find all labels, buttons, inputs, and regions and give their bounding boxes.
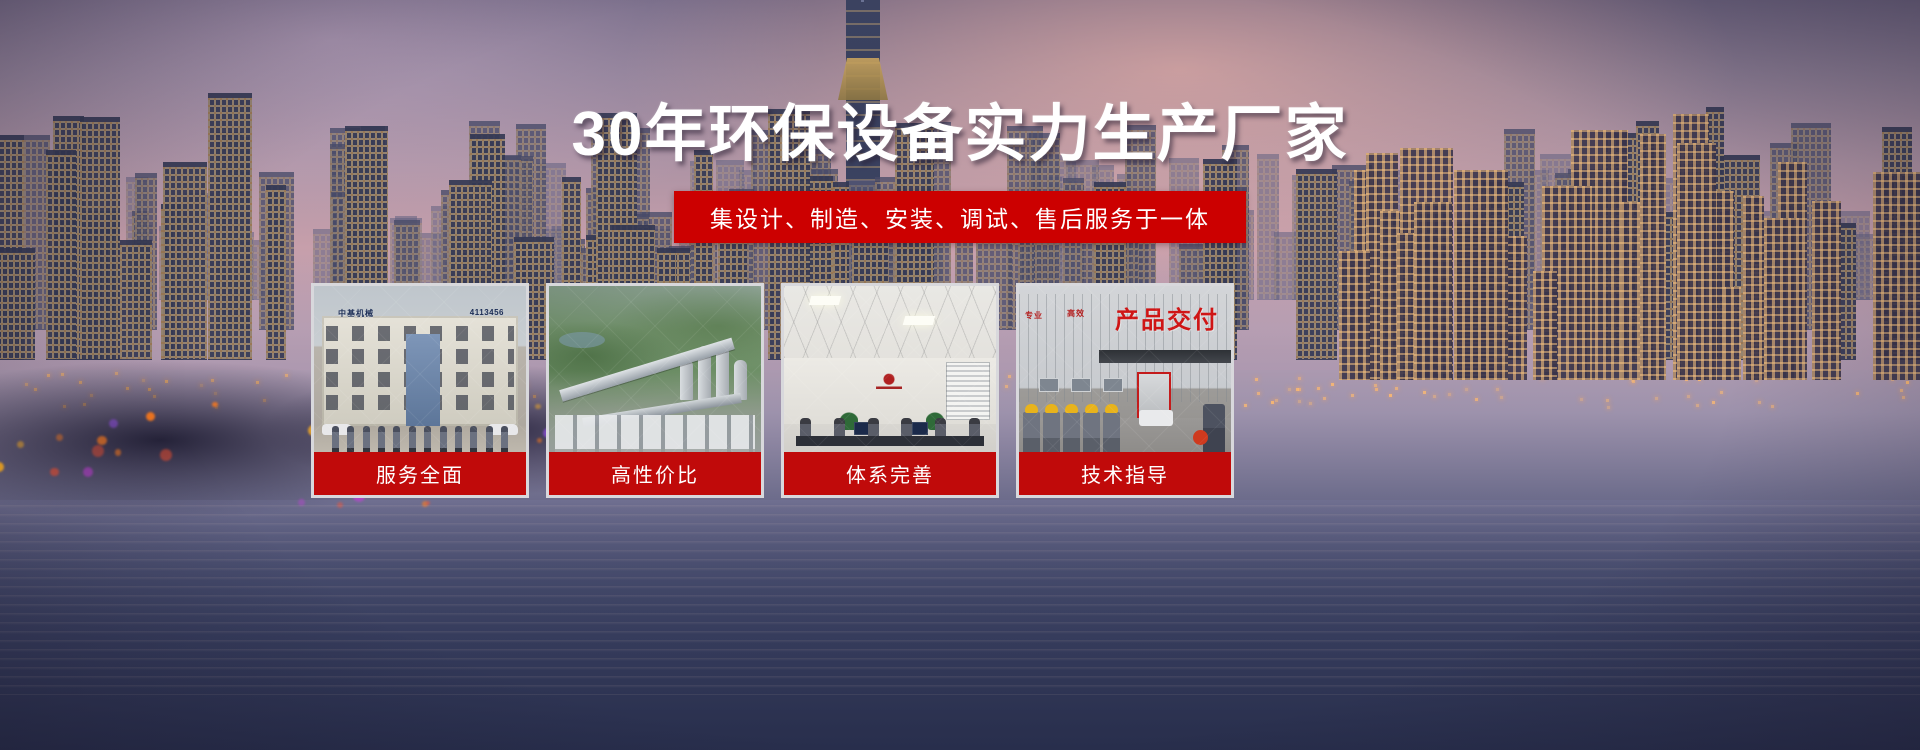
city-light-dot	[1720, 391, 1723, 394]
skyline-building	[1743, 196, 1764, 380]
card-photo: 专业 高效 产品交付	[1019, 286, 1231, 461]
city-light-dot	[1856, 392, 1859, 395]
feature-card[interactable]: 高性价比	[546, 283, 764, 498]
factory-slogan-label: 专业	[1025, 310, 1043, 321]
factory-window	[1103, 378, 1123, 392]
factory-slogan-label: 高效	[1067, 308, 1085, 319]
card-caption: 体系完善	[784, 452, 996, 495]
factory-window	[1039, 378, 1059, 392]
city-light-dot	[1712, 401, 1715, 404]
ceiling-light	[903, 316, 936, 325]
skyline-building	[1812, 201, 1842, 380]
city-light-dot	[1902, 396, 1905, 399]
water-reflections	[0, 505, 1920, 695]
feature-card-list: 中基机械 4113456	[311, 283, 1559, 498]
feature-card[interactable]: 体系完善	[781, 283, 999, 498]
skyline-building	[1723, 287, 1741, 380]
lake-shape	[559, 332, 605, 348]
skyline-building	[1640, 134, 1666, 380]
city-light-dot	[1606, 399, 1609, 402]
hero-banner: 30年环保设备实力生产厂家 集设计、制造、安装、调试、售后服务于一体 中基机械 …	[0, 0, 1920, 750]
lit-tree-dot	[115, 449, 122, 456]
card-caption: 技术指导	[1019, 452, 1231, 495]
card-photo	[549, 286, 761, 461]
city-light-dot	[1758, 401, 1761, 404]
lit-tree-dot	[50, 468, 58, 476]
factory-band	[1099, 350, 1231, 363]
factory-window	[1071, 378, 1091, 392]
lit-tree-dot	[212, 402, 218, 408]
card-caption: 服务全面	[314, 452, 526, 495]
office-desk	[796, 436, 984, 446]
feature-card[interactable]: 中基机械 4113456	[311, 283, 529, 498]
lit-tree-dot	[17, 441, 24, 448]
city-light-dot	[1906, 381, 1909, 384]
skyline-building	[120, 240, 152, 360]
skyline-building	[0, 248, 35, 361]
ceiling-light	[809, 296, 842, 305]
feature-card[interactable]: 专业 高效 产品交付 技术指导	[1016, 283, 1234, 498]
page-title: 30年环保设备实力生产厂家	[0, 104, 1920, 166]
silo-shape	[680, 360, 693, 400]
skyline-building	[46, 150, 76, 360]
city-light-dot	[1900, 389, 1903, 392]
skyline-building	[1873, 172, 1920, 380]
skyline-building	[1764, 218, 1801, 380]
skyline-building	[1677, 143, 1717, 380]
card-photo	[784, 286, 996, 461]
card-caption: 高性价比	[549, 452, 761, 495]
subtitle-bar: 集设计、制造、安装、调试、售后服务于一体	[674, 191, 1246, 243]
card-photo: 中基机械 4113456	[314, 286, 526, 461]
city-light-dot	[1607, 406, 1610, 409]
city-light-dot	[1687, 395, 1690, 398]
city-light-dot	[1771, 405, 1774, 408]
building-sign-label: 中基机械	[338, 308, 374, 319]
skyline-building	[163, 162, 207, 360]
skyline-building	[266, 185, 286, 360]
window-blinds	[946, 362, 990, 420]
building-phone-label: 4113456	[470, 308, 504, 317]
city-light-dot	[1580, 398, 1583, 401]
wall-logo-icon	[876, 372, 902, 396]
city-light-dot	[1696, 404, 1699, 407]
lit-tree-dot	[83, 467, 93, 477]
building-entrance	[406, 334, 440, 426]
factory-headline-label: 产品交付	[1115, 300, 1219, 335]
city-light-dot	[1655, 397, 1658, 400]
